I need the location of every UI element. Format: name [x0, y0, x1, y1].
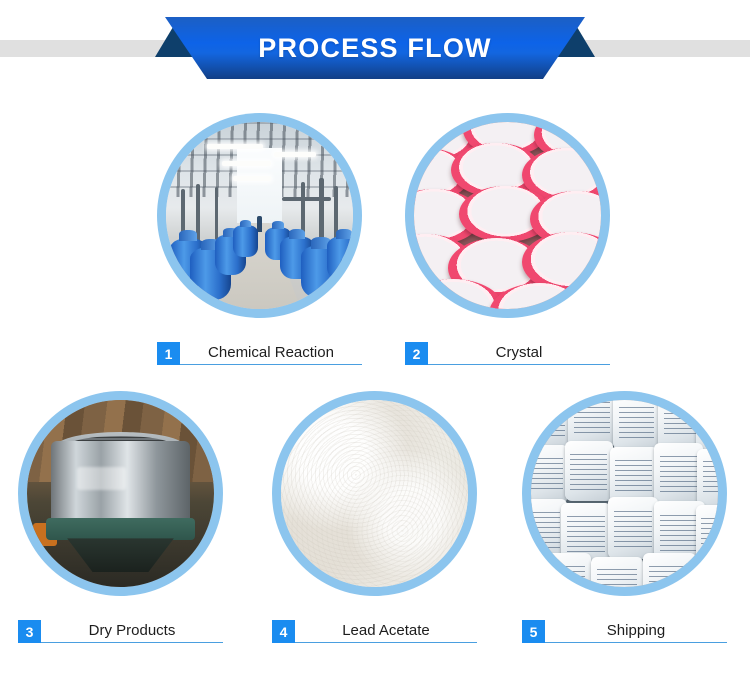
ribbon-banner: PROCESS FLOW [165, 17, 585, 79]
process-step-4[interactable]: 4 Lead Acetate [272, 391, 477, 643]
process-step-5[interactable]: 5 Shipping [522, 391, 727, 643]
step-2-label-underline: Crystal [428, 341, 610, 365]
step-2-number-badge: 2 [405, 342, 428, 365]
process-step-3[interactable]: 3 Dry Products [18, 391, 223, 643]
crystal-basins-photo [414, 122, 601, 309]
process-step-1[interactable]: 1 Chemical Reaction [157, 113, 362, 365]
step-1-label: Chemical Reaction [208, 344, 334, 361]
step-3-label-underline: Dry Products [41, 619, 223, 643]
step-4-label-underline: Lead Acetate [295, 619, 477, 643]
step-4-label: Lead Acetate [342, 622, 430, 639]
step-3-label: Dry Products [89, 622, 176, 639]
shipping-bags-photo [531, 400, 718, 587]
dry-products-centrifuge-photo [27, 400, 214, 587]
step-5-label-row: 5 Shipping [522, 619, 727, 643]
step-1-label-row: 1 Chemical Reaction [157, 341, 362, 365]
page-header: PROCESS FLOW [0, 0, 750, 96]
chemical-reaction-factory-photo [166, 122, 353, 309]
step-4-label-row: 4 Lead Acetate [272, 619, 477, 643]
process-step-2[interactable]: 2 Crystal [405, 113, 610, 365]
step-5-number-badge: 5 [522, 620, 545, 643]
step-5-image-circle [522, 391, 727, 596]
step-1-number-badge: 1 [157, 342, 180, 365]
step-2-image-circle [405, 113, 610, 318]
step-2-label: Crystal [496, 344, 543, 361]
step-4-image-circle [272, 391, 477, 596]
step-3-number-badge: 3 [18, 620, 41, 643]
step-5-label: Shipping [607, 622, 665, 639]
step-3-label-row: 3 Dry Products [18, 619, 223, 643]
step-1-image-circle [157, 113, 362, 318]
step-2-label-row: 2 Crystal [405, 341, 610, 365]
step-1-label-underline: Chemical Reaction [180, 341, 362, 365]
step-3-image-circle [18, 391, 223, 596]
step-4-number-badge: 4 [272, 620, 295, 643]
lead-acetate-powder-photo [281, 400, 468, 587]
step-5-label-underline: Shipping [545, 619, 727, 643]
page-title: PROCESS FLOW [258, 33, 491, 64]
